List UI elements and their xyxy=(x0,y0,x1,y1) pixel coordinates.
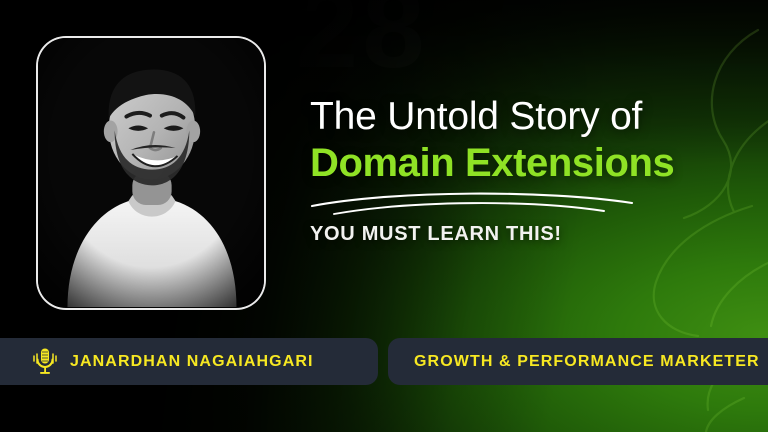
host-portrait-photo xyxy=(38,38,264,307)
title-line-1: The Untold Story of xyxy=(310,96,742,138)
host-portrait-frame xyxy=(36,36,266,310)
headline-block: The Untold Story of Domain Extensions YO… xyxy=(310,96,742,246)
subtitle-text: YOU MUST LEARN THIS! xyxy=(310,223,742,246)
host-name-label: JANARDHAN NAGAIAHGARI xyxy=(70,353,314,371)
underline-arc-decoration xyxy=(310,191,640,215)
thumbnail-canvas: EP # 28 xyxy=(0,0,768,432)
host-role-bar: GROWTH & PERFORMANCE MARKETER xyxy=(388,338,768,385)
title-line-2-highlight: Domain Extensions xyxy=(310,140,742,187)
host-name-bar: JANARDHAN NAGAIAHGARI xyxy=(0,338,378,385)
host-role-label: GROWTH & PERFORMANCE MARKETER xyxy=(414,353,760,371)
microphone-icon xyxy=(32,347,58,377)
